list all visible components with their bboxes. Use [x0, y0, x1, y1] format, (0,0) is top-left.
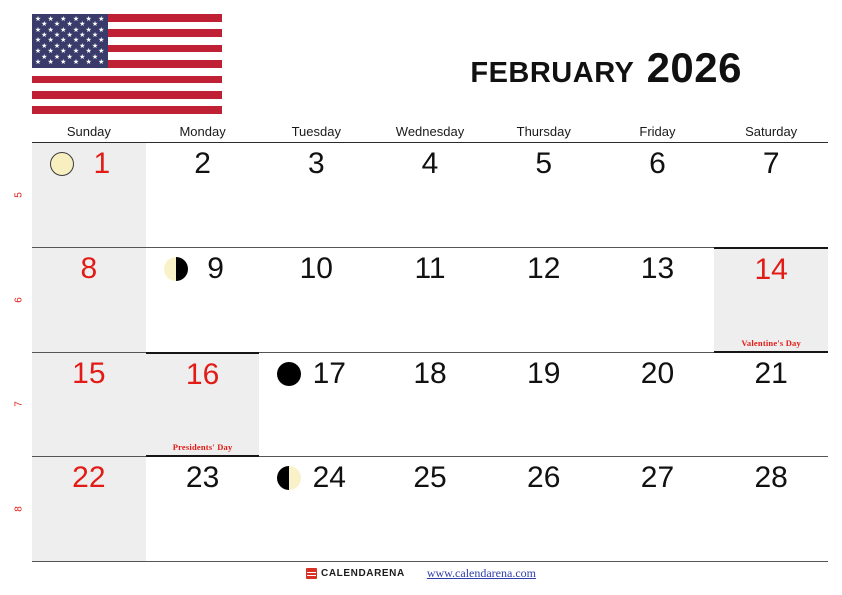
- flag-stripe: [32, 106, 222, 114]
- day-number: 3: [259, 146, 373, 182]
- day-cell-18[interactable]: 18: [373, 353, 487, 457]
- day-cell-3[interactable]: 3: [259, 143, 373, 247]
- brand-logo: CALENDARENA: [306, 568, 405, 579]
- weekday-label-sunday: Sunday: [32, 124, 146, 142]
- flag-star: ★: [41, 43, 47, 50]
- flag-star: ★: [35, 59, 41, 66]
- week-number: 6: [13, 297, 24, 303]
- day-number: 26: [487, 460, 601, 496]
- flag-star: ★: [79, 32, 85, 39]
- weekday-label-monday: Monday: [146, 124, 260, 142]
- flag-star: ★: [92, 54, 98, 61]
- holiday-label: Valentine's Day: [714, 338, 828, 348]
- day-cell-25[interactable]: 25: [373, 457, 487, 561]
- flag-star: ★: [41, 21, 47, 28]
- day-cell-19[interactable]: 19: [487, 353, 601, 457]
- day-number: 15: [32, 356, 146, 392]
- day-cell-14[interactable]: 14Valentine's Day: [714, 247, 828, 353]
- holiday-label: Presidents' Day: [146, 442, 260, 452]
- week-row: 822232425262728: [32, 457, 828, 562]
- flag-star: ★: [48, 37, 54, 44]
- flag-star: ★: [48, 16, 54, 23]
- flag-star: ★: [67, 21, 73, 28]
- day-number: 25: [373, 460, 487, 496]
- flag-star: ★: [60, 27, 66, 34]
- week-number: 5: [13, 192, 24, 198]
- day-cell-5[interactable]: 5: [487, 143, 601, 247]
- day-number: 5: [487, 146, 601, 182]
- flag-star: ★: [35, 48, 41, 55]
- day-cell-7[interactable]: 7: [714, 143, 828, 247]
- day-number: 1: [58, 146, 146, 182]
- weekday-label-thursday: Thursday: [487, 124, 601, 142]
- day-cell-4[interactable]: 4: [373, 143, 487, 247]
- calendar-footer: CALENDARENA www.calendarena.com: [0, 566, 842, 581]
- flag-star: ★: [73, 27, 79, 34]
- weekday-label-friday: Friday: [601, 124, 715, 142]
- flag-star: ★: [98, 59, 104, 66]
- day-cell-23[interactable]: 23: [146, 457, 260, 561]
- day-number: 14: [714, 252, 828, 288]
- day-cell-28[interactable]: 28: [714, 457, 828, 561]
- page-title: February 2026: [470, 44, 742, 92]
- day-cell-1[interactable]: 1: [32, 143, 146, 247]
- day-number: 19: [487, 356, 601, 392]
- day-cell-16[interactable]: 16Presidents' Day: [146, 352, 260, 458]
- day-number: 11: [373, 251, 487, 287]
- us-flag-icon: ★★★★★★★★★★★★★★★★★★★★★★★★★★★★★★★★★★★★★★★★…: [32, 14, 222, 114]
- flag-star: ★: [86, 27, 92, 34]
- flag-star: ★: [73, 37, 79, 44]
- day-cell-21[interactable]: 21: [714, 353, 828, 457]
- day-number: 21: [714, 356, 828, 392]
- weekday-header-row: SundayMondayTuesdayWednesdayThursdayFrid…: [32, 124, 828, 143]
- week-number: 7: [13, 402, 24, 408]
- flag-star: ★: [73, 48, 79, 55]
- flag-star: ★: [86, 37, 92, 44]
- calendar-header: ★★★★★★★★★★★★★★★★★★★★★★★★★★★★★★★★★★★★★★★★…: [0, 0, 842, 122]
- day-number: 16: [146, 357, 260, 393]
- day-number: 10: [259, 251, 373, 287]
- flag-star: ★: [35, 27, 41, 34]
- day-number: 17: [285, 356, 373, 392]
- weekday-label-wednesday: Wednesday: [373, 124, 487, 142]
- day-cell-2[interactable]: 2: [146, 143, 260, 247]
- flag-star: ★: [54, 54, 60, 61]
- weekday-label-saturday: Saturday: [714, 124, 828, 142]
- brand-name: CALENDARENA: [321, 568, 405, 579]
- flag-canton: ★★★★★★★★★★★★★★★★★★★★★★★★★★★★★★★★★★★★★★★★…: [32, 14, 108, 68]
- flag-star: ★: [86, 16, 92, 23]
- week-row: 6891011121314Valentine's Day: [32, 248, 828, 353]
- flag-star: ★: [48, 48, 54, 55]
- week-number: 8: [13, 506, 24, 512]
- calendar-icon: [306, 568, 317, 579]
- day-cell-26[interactable]: 26: [487, 457, 601, 561]
- flag-star: ★: [41, 32, 47, 39]
- day-number: 22: [32, 460, 146, 496]
- day-cell-10[interactable]: 10: [259, 248, 373, 352]
- day-number: 2: [146, 146, 260, 182]
- week-row: 51234567: [32, 143, 828, 248]
- flag-star: ★: [86, 59, 92, 66]
- flag-star: ★: [92, 32, 98, 39]
- website-link[interactable]: www.calendarena.com: [427, 566, 536, 581]
- flag-stripe: [32, 91, 222, 99]
- flag-star: ★: [79, 21, 85, 28]
- day-number: 9: [172, 251, 260, 287]
- day-number: 8: [32, 251, 146, 287]
- flag-star: ★: [92, 43, 98, 50]
- day-cell-17[interactable]: 17: [259, 353, 373, 457]
- flag-star: ★: [98, 37, 104, 44]
- flag-star: ★: [98, 48, 104, 55]
- day-number: 28: [714, 460, 828, 496]
- flag-star: ★: [54, 32, 60, 39]
- flag-star: ★: [48, 27, 54, 34]
- day-number: 20: [601, 356, 715, 392]
- flag-star: ★: [73, 16, 79, 23]
- day-number: 24: [285, 460, 373, 496]
- flag-star: ★: [35, 37, 41, 44]
- day-cell-22[interactable]: 22: [32, 457, 146, 561]
- day-cell-11[interactable]: 11: [373, 248, 487, 352]
- flag-star: ★: [79, 54, 85, 61]
- day-number: 6: [601, 146, 715, 182]
- flag-star: ★: [67, 54, 73, 61]
- flag-star: ★: [67, 43, 73, 50]
- flag-star: ★: [92, 21, 98, 28]
- flag-star: ★: [54, 21, 60, 28]
- flag-star: ★: [79, 43, 85, 50]
- weekday-label-tuesday: Tuesday: [259, 124, 373, 142]
- flag-star: ★: [60, 37, 66, 44]
- day-number: 7: [714, 146, 828, 182]
- day-cell-15[interactable]: 15: [32, 353, 146, 457]
- day-cell-8[interactable]: 8: [32, 248, 146, 352]
- flag-star: ★: [54, 43, 60, 50]
- flag-star: ★: [60, 16, 66, 23]
- flag-star: ★: [35, 16, 41, 23]
- day-number: 27: [601, 460, 715, 496]
- day-cell-27[interactable]: 27: [601, 457, 715, 561]
- flag-star: ★: [98, 27, 104, 34]
- day-cell-9[interactable]: 9: [146, 248, 260, 352]
- day-cell-24[interactable]: 24: [259, 457, 373, 561]
- week-row: 71516Presidents' Day1718192021: [32, 353, 828, 458]
- day-number: 12: [487, 251, 601, 287]
- day-cell-13[interactable]: 13: [601, 248, 715, 352]
- flag-star: ★: [41, 54, 47, 61]
- flag-star: ★: [86, 48, 92, 55]
- flag-stripe: [32, 76, 222, 84]
- flag-star: ★: [73, 59, 79, 66]
- flag-star: ★: [60, 48, 66, 55]
- day-cell-12[interactable]: 12: [487, 248, 601, 352]
- day-number: 18: [373, 356, 487, 392]
- day-cell-20[interactable]: 20: [601, 353, 715, 457]
- flag-star: ★: [98, 16, 104, 23]
- day-number: 23: [146, 460, 260, 496]
- day-number: 13: [601, 251, 715, 287]
- day-cell-6[interactable]: 6: [601, 143, 715, 247]
- day-number: 4: [373, 146, 487, 182]
- flag-star: ★: [48, 59, 54, 66]
- flag-star: ★: [67, 32, 73, 39]
- flag-star: ★: [60, 59, 66, 66]
- calendar-grid: 512345676891011121314Valentine's Day7151…: [32, 143, 828, 562]
